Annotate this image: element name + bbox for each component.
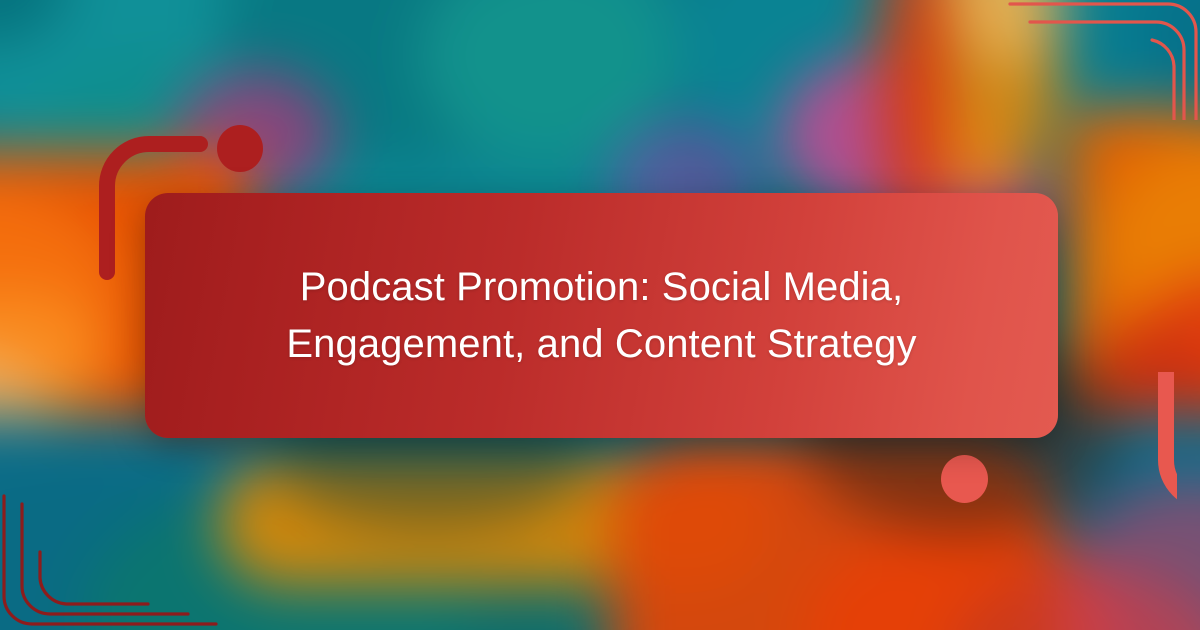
title-card: Podcast Promotion: Social Media, Engagem… bbox=[145, 193, 1058, 438]
page-title: Podcast Promotion: Social Media, Engagem… bbox=[286, 259, 916, 373]
circle-dot-bottom-right bbox=[941, 455, 988, 503]
social-share-card-canvas: Podcast Promotion: Social Media, Engagem… bbox=[0, 0, 1200, 630]
circle-dot-top-left bbox=[217, 125, 263, 172]
